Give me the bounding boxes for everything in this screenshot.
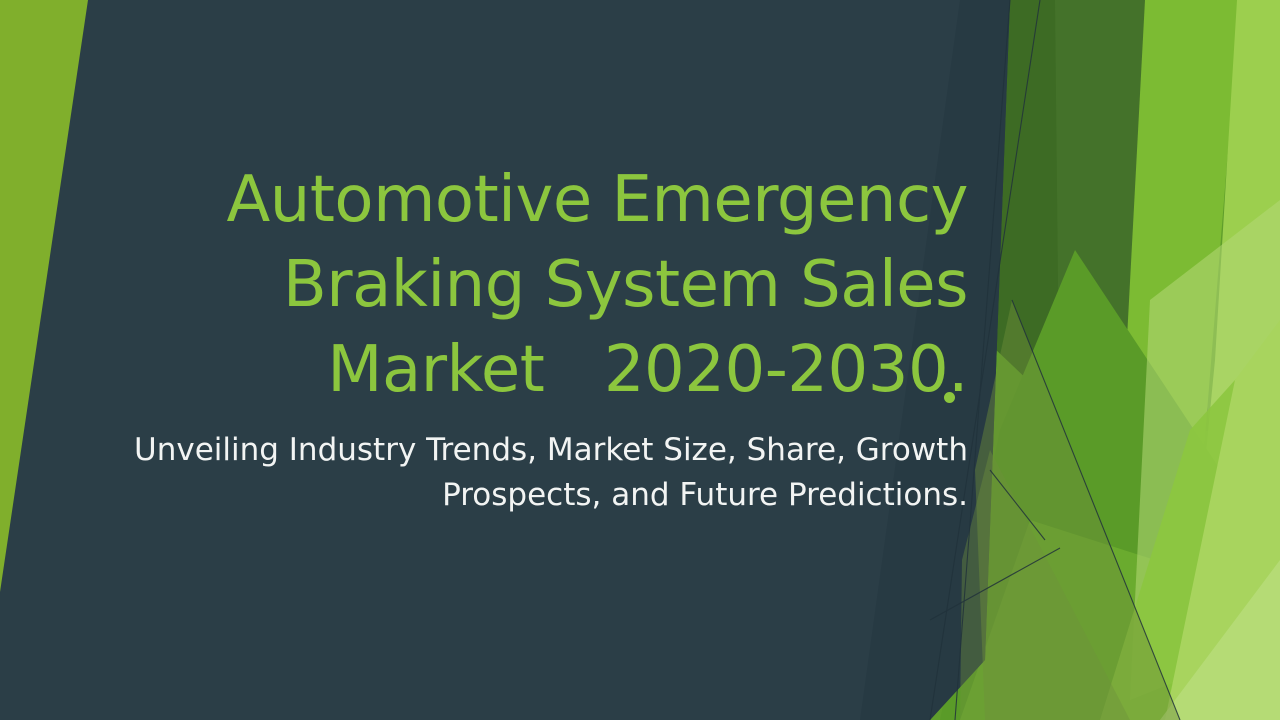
presentation-slide: Automotive Emergency Braking System Sale… xyxy=(0,0,1280,720)
page-title: Automotive Emergency Braking System Sale… xyxy=(112,158,968,413)
subtitle-placeholder[interactable]: Unveiling Industry Trends, Market Size, … xyxy=(112,428,968,518)
slide-content: Automotive Emergency Braking System Sale… xyxy=(0,0,1280,720)
slide-subtitle: Unveiling Industry Trends, Market Size, … xyxy=(112,428,968,518)
title-placeholder[interactable]: Automotive Emergency Braking System Sale… xyxy=(112,158,968,413)
accent-dot-icon xyxy=(944,392,955,403)
